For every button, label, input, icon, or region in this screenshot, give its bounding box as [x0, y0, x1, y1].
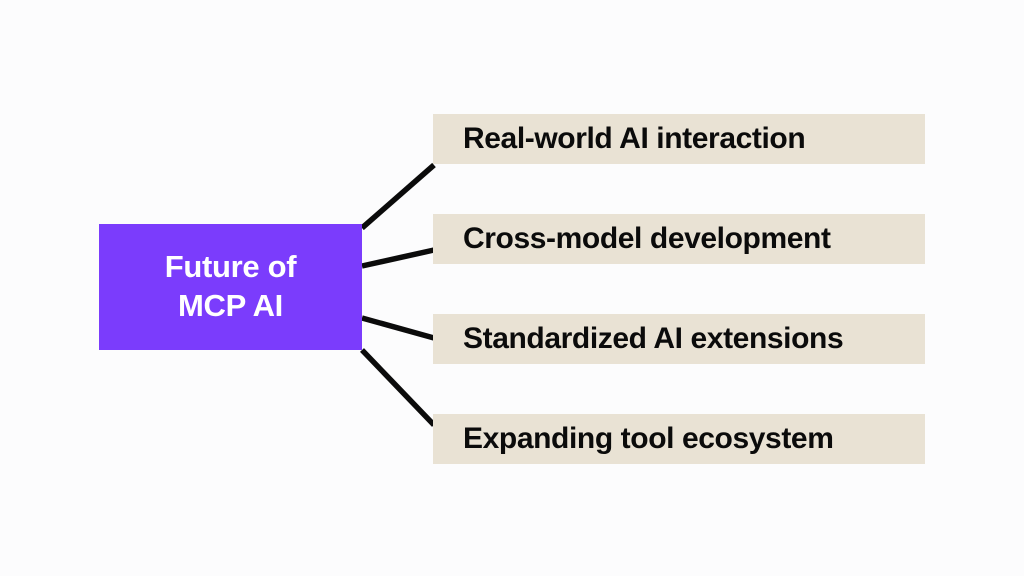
branch-node-label: Standardized AI extensions: [463, 324, 843, 354]
branch-node-standardized-ai-extensions[interactable]: Standardized AI extensions: [433, 314, 925, 364]
branch-node-cross-model-development[interactable]: Cross-model development: [433, 214, 925, 264]
branch-node-label: Real-world AI interaction: [463, 124, 805, 154]
branch-node-label: Expanding tool ecosystem: [463, 424, 833, 454]
connector-line-4: [362, 350, 434, 425]
connector-line-1: [362, 165, 434, 228]
central-node-future-of-mcp-ai[interactable]: Future of MCP AI: [99, 224, 362, 350]
connector-line-2: [362, 250, 434, 266]
branch-node-expanding-tool-ecosystem[interactable]: Expanding tool ecosystem: [433, 414, 925, 464]
connector-line-3: [362, 318, 434, 338]
central-node-label: Future of MCP AI: [165, 248, 297, 326]
branch-node-real-world-ai-interaction[interactable]: Real-world AI interaction: [433, 114, 925, 164]
branch-node-label: Cross-model development: [463, 224, 831, 254]
mind-map-diagram: Future of MCP AI Real-world AI interacti…: [0, 0, 1024, 576]
